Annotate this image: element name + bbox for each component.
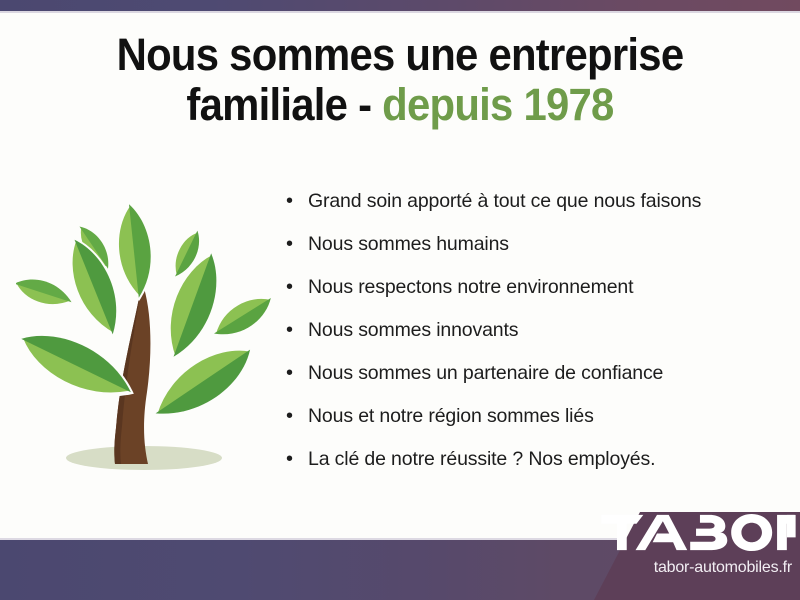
- benefits-list: • Grand soin apporté à tout ce que nous …: [286, 190, 766, 491]
- list-item: • Nous et notre région sommes liés: [286, 405, 766, 448]
- bullet-marker-icon: •: [286, 277, 308, 297]
- list-item: • Grand soin apporté à tout ce que nous …: [286, 190, 766, 233]
- list-item-label: La clé de notre réussite ? Nos employés.: [308, 448, 655, 471]
- bullet-marker-icon: •: [286, 406, 308, 426]
- page-title: Nous sommes une entreprise familiale - d…: [0, 30, 800, 131]
- list-item: • La clé de notre réussite ? Nos employé…: [286, 448, 766, 491]
- list-item: • Nous sommes un partenaire de confiance: [286, 362, 766, 405]
- list-item: • Nous respectons notre environnement: [286, 276, 766, 319]
- top-accent-hairline: [0, 11, 800, 13]
- title-line-2-plain: familiale -: [186, 79, 371, 130]
- list-item-label: Nous sommes innovants: [308, 319, 518, 342]
- list-item-label: Nous sommes un partenaire de confiance: [308, 362, 663, 385]
- slide-canvas: Nous sommes une entreprise familiale - d…: [0, 0, 800, 600]
- list-item-label: Nous sommes humains: [308, 233, 509, 256]
- list-item-label: Grand soin apporté à tout ce que nous fa…: [308, 190, 701, 213]
- tabor-wordmark-icon: [600, 512, 796, 553]
- list-item-label: Nous et notre région sommes liés: [308, 405, 594, 428]
- tabor-logo[interactable]: [600, 510, 800, 554]
- bullet-marker-icon: •: [286, 191, 308, 211]
- top-accent-bar: [0, 0, 800, 11]
- list-item: • Nous sommes innovants: [286, 319, 766, 362]
- title-line-1: Nous sommes une entreprise: [28, 30, 772, 80]
- logo-tagline[interactable]: tabor-automobiles.fr: [600, 559, 792, 577]
- bullet-marker-icon: •: [286, 320, 308, 340]
- title-line-2-accent: depuis 1978: [382, 79, 613, 130]
- list-item-label: Nous respectons notre environnement: [308, 276, 633, 299]
- bullet-marker-icon: •: [286, 449, 308, 469]
- bullet-marker-icon: •: [286, 363, 308, 383]
- list-item: • Nous sommes humains: [286, 233, 766, 276]
- tree-icon: [16, 196, 280, 486]
- title-line-2: familiale - depuis 1978: [28, 80, 772, 130]
- bullet-marker-icon: •: [286, 234, 308, 254]
